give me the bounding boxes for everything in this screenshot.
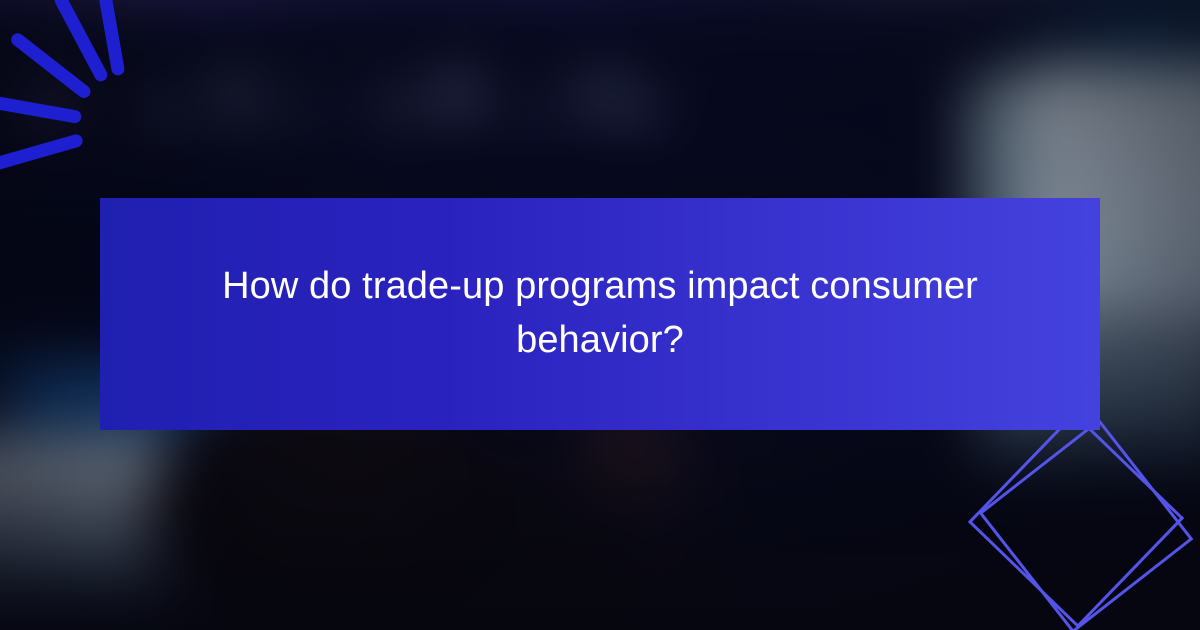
- screenshot-canvas: How do trade-up programs impact consumer…: [0, 0, 1200, 630]
- question-text: How do trade-up programs impact consumer…: [158, 260, 1042, 368]
- question-card: How do trade-up programs impact consumer…: [100, 198, 1100, 430]
